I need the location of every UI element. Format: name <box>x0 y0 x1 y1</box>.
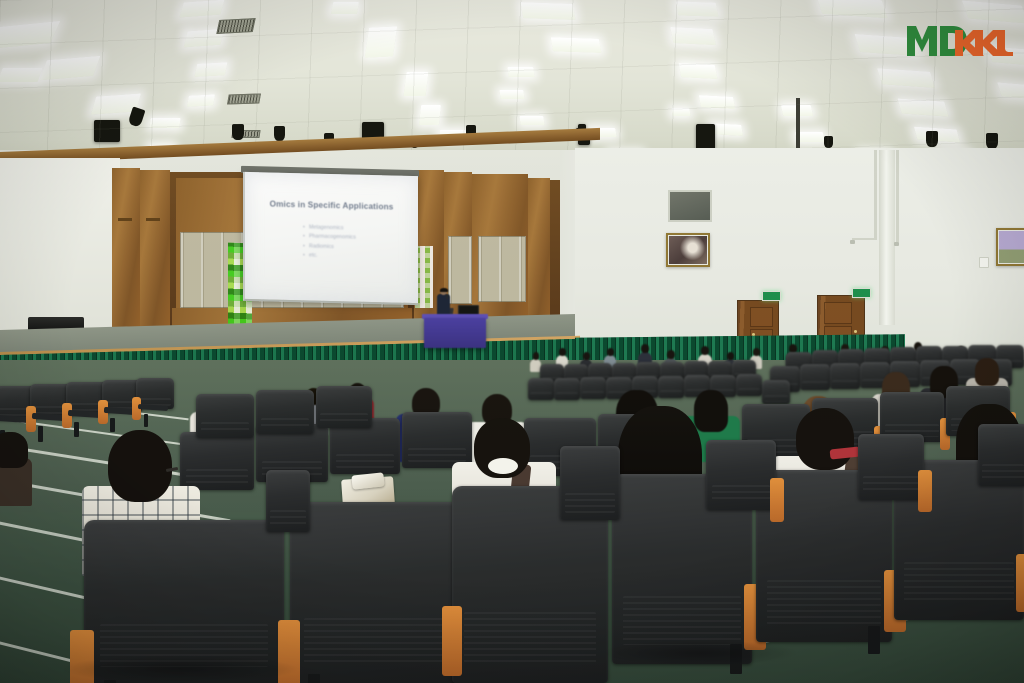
slide-title: Omics in Specific Applications <box>245 199 418 212</box>
seat-back <box>858 434 924 500</box>
seat[interactable] <box>266 470 310 532</box>
person-head <box>533 352 539 360</box>
ceiling-light <box>914 127 960 143</box>
ceiling-light <box>520 2 575 20</box>
door-panel <box>824 302 852 324</box>
ceiling-light <box>671 108 690 116</box>
seat-back <box>196 394 254 438</box>
ceiling-speaker <box>94 120 120 142</box>
seat-back <box>830 363 860 389</box>
sprinkler-head <box>850 240 855 244</box>
stage-spotlight <box>824 136 833 148</box>
seat[interactable] <box>196 394 254 438</box>
ceiling-speaker <box>696 124 715 150</box>
stage-spotlight <box>926 131 938 147</box>
person-head <box>641 344 649 353</box>
ceiling-light <box>194 62 227 77</box>
exit-sign <box>762 291 781 301</box>
wood-pilaster-left <box>112 168 140 330</box>
seat[interactable] <box>762 380 790 404</box>
hvac-vent <box>227 93 261 104</box>
hvac-vent <box>231 130 260 138</box>
sprinkler-pipe <box>852 238 876 240</box>
ceiling-light <box>551 37 602 53</box>
seat-back <box>560 446 620 520</box>
seat-leg <box>38 426 43 442</box>
exit-sign <box>852 288 871 298</box>
seat-side <box>918 470 932 512</box>
sprinkler-pipe <box>874 150 877 240</box>
ceiling-light <box>676 1 719 16</box>
seat-back <box>800 364 830 390</box>
seat-back <box>316 386 372 428</box>
ceiling-light <box>678 63 717 79</box>
ceiling-light <box>781 105 813 116</box>
podium <box>424 318 486 348</box>
seat-back <box>266 470 310 532</box>
stage-spotlight <box>274 126 285 141</box>
ceiling-conduit <box>796 98 800 153</box>
seat-back <box>978 424 1024 486</box>
seat[interactable] <box>554 378 580 400</box>
acoustic-panel-far <box>478 236 526 302</box>
stage-wall-corner-edge <box>550 180 560 330</box>
seat[interactable] <box>800 364 830 390</box>
painting-canvas <box>999 231 1024 263</box>
seat[interactable] <box>858 434 924 500</box>
seat-back <box>290 502 460 683</box>
ceiling-light <box>699 95 735 109</box>
seat-leg <box>868 626 880 654</box>
ceiling-light <box>0 21 60 49</box>
seat-leg <box>308 674 320 683</box>
sprinkler-pipe <box>896 150 899 242</box>
person-head <box>727 352 734 360</box>
projection-screen: Omics in Specific Applications Metagenom… <box>243 172 418 305</box>
person-head <box>667 350 675 359</box>
person-hair <box>0 432 28 468</box>
ceiling-light <box>179 0 224 17</box>
seat-back <box>528 378 554 400</box>
door-knob[interactable] <box>854 330 857 333</box>
seat[interactable] <box>978 424 1024 486</box>
person-head <box>607 348 614 356</box>
ceiling-light <box>365 26 397 57</box>
ceiling-light <box>507 67 534 77</box>
ceiling-light <box>187 94 215 106</box>
framed-painting-right <box>996 228 1024 266</box>
right-wall <box>575 148 1024 363</box>
seat-back <box>706 440 776 510</box>
seat-side <box>442 606 462 676</box>
seat-foreground[interactable] <box>290 502 460 683</box>
seat-back <box>554 378 580 400</box>
door-panel <box>750 307 773 327</box>
person-head <box>583 352 590 360</box>
seat[interactable] <box>830 363 860 389</box>
audience-member-edge-left <box>0 432 32 502</box>
wall-column <box>879 150 895 325</box>
presenter-hair <box>440 288 448 292</box>
framed-painting-mid <box>666 233 710 267</box>
stage-spotlight <box>232 124 244 140</box>
hvac-vent <box>216 18 255 34</box>
seat[interactable] <box>256 390 314 434</box>
person-head <box>753 348 760 356</box>
wall-vent-window <box>668 190 712 222</box>
seat[interactable] <box>528 378 554 400</box>
seat-side <box>1016 554 1024 612</box>
seat-leg <box>74 422 79 437</box>
sprinkler-head <box>894 242 899 246</box>
ceiling-light <box>877 68 935 88</box>
seat-back <box>762 380 790 404</box>
person-hair <box>975 358 999 386</box>
seat-shadow <box>60 655 300 683</box>
seat[interactable] <box>316 386 372 428</box>
ceiling-light <box>91 93 141 114</box>
ceiling-light <box>184 29 225 48</box>
stage-wall-upper <box>0 158 120 333</box>
wall-outlet[interactable] <box>979 257 989 268</box>
stage-wall-corner <box>528 178 550 330</box>
ceiling-light <box>897 98 948 116</box>
ceiling-light <box>331 2 359 14</box>
ceiling-light <box>670 27 716 45</box>
person-head <box>701 346 709 355</box>
mdkku-logo: MDKKU <box>905 22 1013 64</box>
person-head <box>559 348 566 356</box>
ceiling-light <box>816 0 887 18</box>
slide-bullet-list: Metagenomics Pharmacogenomics Radiomics … <box>303 223 356 261</box>
acoustic-panel-right <box>448 236 472 304</box>
seat[interactable] <box>560 446 620 520</box>
ceiling-light <box>499 90 524 99</box>
ceiling-light <box>149 118 180 128</box>
seat-leg <box>144 414 148 427</box>
auditorium-photo: ▪▪▪ MDKKU <box>0 0 1024 683</box>
seat[interactable] <box>706 440 776 510</box>
slide-bullet: etc. <box>303 251 356 262</box>
eyeglasses-arm <box>166 467 178 472</box>
ceiling-light <box>404 72 429 96</box>
pilaster-handle <box>146 218 160 221</box>
person-head <box>796 408 854 470</box>
stage-spotlight <box>986 133 998 149</box>
ceiling-light <box>795 132 825 142</box>
ceiling-light <box>997 82 1024 99</box>
seat-back <box>580 377 606 399</box>
seat-side <box>770 478 784 522</box>
painting-canvas <box>669 236 707 264</box>
person-head <box>108 430 172 502</box>
ceiling-light <box>711 123 743 136</box>
ceiling-light <box>0 68 43 82</box>
seat[interactable] <box>580 377 606 399</box>
hair-scrunchie <box>488 458 518 474</box>
seat-empty[interactable] <box>136 378 174 409</box>
ceiling-light <box>419 105 441 125</box>
seat-shadow <box>600 640 800 666</box>
ceiling-light <box>962 0 1024 23</box>
pilaster-handle <box>118 218 132 221</box>
seat-back <box>256 390 314 434</box>
stage-spotlight <box>128 106 146 127</box>
ceiling-light <box>186 33 187 34</box>
microphone <box>446 294 448 299</box>
ceiling-light <box>519 116 544 125</box>
wood-pilaster-left2 <box>140 170 170 328</box>
ceiling-light <box>40 56 101 81</box>
